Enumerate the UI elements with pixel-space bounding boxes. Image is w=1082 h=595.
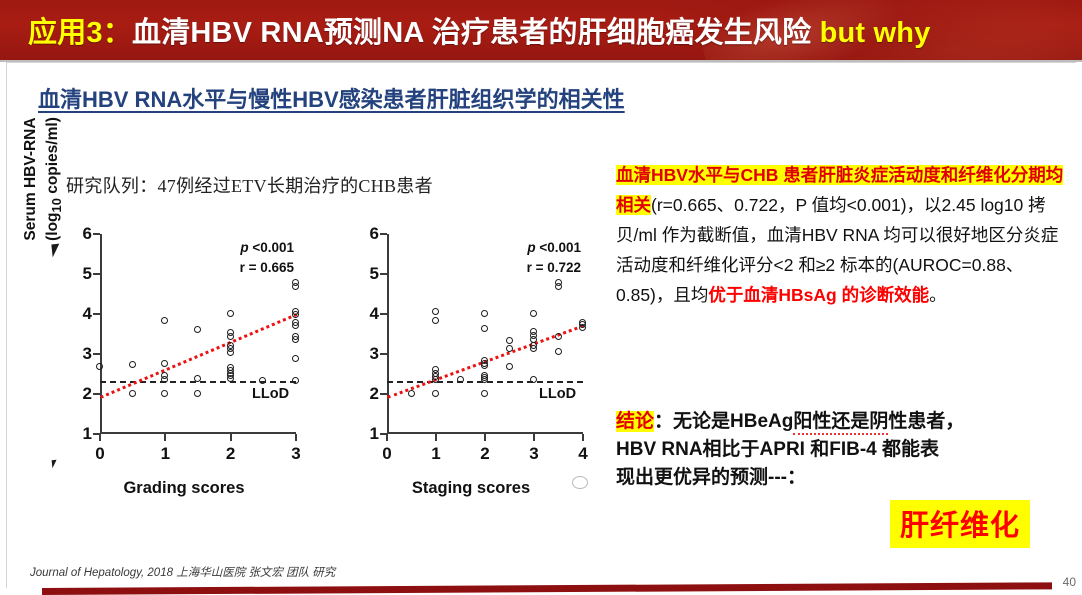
y-tick bbox=[380, 233, 387, 235]
data-point bbox=[194, 375, 201, 382]
annotation-r-value: r = 0.665 bbox=[240, 260, 294, 275]
conclusion-line2: HBV RNA相比于APRI 和FIB-4 都能表 bbox=[616, 439, 939, 460]
x-tick bbox=[386, 434, 388, 441]
data-point bbox=[292, 283, 299, 290]
x-tick-label: 3 bbox=[283, 444, 309, 464]
data-point bbox=[506, 345, 513, 352]
x-tick-label: 2 bbox=[472, 444, 498, 464]
y-tick bbox=[380, 313, 387, 315]
x-tick-label: 0 bbox=[374, 444, 400, 464]
data-point bbox=[194, 326, 201, 333]
analysis-body-2: 。 bbox=[929, 285, 947, 305]
data-point bbox=[161, 360, 168, 367]
y-tick bbox=[93, 353, 100, 355]
title-suffix: but why bbox=[820, 17, 931, 49]
y-tick bbox=[380, 273, 387, 275]
title-badge: 应用3 bbox=[28, 17, 103, 49]
y-tick bbox=[93, 233, 100, 235]
x-tick-label: 0 bbox=[87, 444, 113, 464]
y-axis-line bbox=[387, 234, 389, 434]
x-axis-label: Staging scores bbox=[351, 479, 591, 498]
reference-line-label: LLoD bbox=[539, 386, 576, 402]
data-point bbox=[227, 349, 234, 356]
data-point bbox=[506, 363, 513, 370]
y-tick-label: 4 bbox=[70, 304, 92, 324]
x-tick-label: 1 bbox=[423, 444, 449, 464]
data-point bbox=[432, 390, 439, 397]
annotation-p-value: p <0.001 bbox=[527, 240, 581, 255]
x-tick-label: 4 bbox=[570, 444, 596, 464]
data-point bbox=[292, 355, 299, 362]
conclusion-line1-squiggle: 阳性还是阴 bbox=[793, 411, 888, 435]
y-axis-label-line2: (log10 copies/ml) bbox=[44, 104, 65, 254]
x-tick-label: 3 bbox=[521, 444, 547, 464]
x-tick bbox=[295, 434, 297, 441]
data-point bbox=[530, 376, 537, 383]
y-tick-label: 1 bbox=[70, 424, 92, 444]
y-tick-label: 5 bbox=[357, 264, 379, 284]
x-tick bbox=[99, 434, 101, 441]
slide-subtitle: 血清HBV RNA水平与慢性HBV感染患者肝脏组织学的相关性 bbox=[38, 82, 625, 114]
emphasis-box-liver-fibrosis: 肝纤维化 bbox=[890, 500, 1030, 548]
y-tick-label: 6 bbox=[357, 224, 379, 244]
y-tick-label: 6 bbox=[70, 224, 92, 244]
footer-accent-bar bbox=[42, 582, 1052, 595]
data-point bbox=[292, 336, 299, 343]
y-tick-label: 3 bbox=[70, 344, 92, 364]
plot-area-staging: p <0.001 r = 0.722 12345601234LLoD bbox=[387, 234, 583, 434]
data-point bbox=[481, 325, 488, 332]
x-tick-label: 2 bbox=[218, 444, 244, 464]
title-banner: 应用3：血清HBV RNA预测NA 治疗患者的肝细胞癌发生风险 but why bbox=[0, 0, 1082, 62]
annotation-r-value: r = 0.722 bbox=[527, 260, 581, 275]
conclusion-line1-b: 性患者， bbox=[888, 411, 964, 432]
data-point bbox=[481, 362, 488, 369]
data-point bbox=[579, 324, 586, 331]
title-main: 血清HBV RNA预测NA 治疗患者的肝细胞癌发生风险 bbox=[132, 17, 811, 49]
annotation-p-value: p <0.001 bbox=[240, 240, 294, 255]
y-tick-label: 1 bbox=[357, 424, 379, 444]
x-tick bbox=[582, 434, 584, 441]
y-tick bbox=[93, 273, 100, 275]
conclusion-block: 结论：无论是HBeAg阳性还是阴性患者， HBV RNA相比于APRI 和FIB… bbox=[616, 408, 1068, 492]
reference-line-label: LLoD bbox=[252, 386, 289, 402]
slide-root: 应用3：血清HBV RNA预测NA 治疗患者的肝细胞癌发生风险 but why … bbox=[0, 0, 1082, 595]
data-point bbox=[506, 337, 513, 344]
chart-panel-grading: Serum HBV-RNA (log10 copies/ml) p <0.001… bbox=[24, 228, 307, 496]
y-tick bbox=[93, 313, 100, 315]
y-tick-label: 2 bbox=[70, 384, 92, 404]
data-point bbox=[432, 317, 439, 324]
data-point bbox=[292, 322, 299, 329]
x-tick bbox=[435, 434, 437, 441]
data-point bbox=[555, 348, 562, 355]
data-point bbox=[161, 390, 168, 397]
figure-scatter-pair: Serum HBV-RNA (log10 copies/ml) p <0.001… bbox=[24, 228, 594, 496]
page-number: 40 bbox=[1063, 575, 1076, 589]
conclusion-colon: ： bbox=[654, 411, 673, 432]
data-point bbox=[227, 310, 234, 317]
data-point bbox=[432, 308, 439, 315]
chart-panel-staging: p <0.001 r = 0.722 12345601234LLoD Stagi… bbox=[311, 228, 594, 496]
y-axis-line bbox=[100, 234, 102, 434]
y-axis-label-line1: Serum HBV-RNA bbox=[22, 104, 39, 254]
y-tick-label: 5 bbox=[70, 264, 92, 284]
y-tick-label: 4 bbox=[357, 304, 379, 324]
x-axis-label: Grading scores bbox=[64, 479, 304, 498]
data-point bbox=[555, 283, 562, 290]
footer-citation: Journal of Hepatology, 2018 上海华山医院 张文宏 团… bbox=[30, 564, 335, 580]
y-tick bbox=[380, 393, 387, 395]
data-point bbox=[194, 390, 201, 397]
plot-area-grading: p <0.001 r = 0.665 1234560123LLoD bbox=[100, 234, 296, 434]
data-point bbox=[530, 345, 537, 352]
data-point bbox=[555, 333, 562, 340]
cohort-caption: 研究队列：47例经过ETV长期治疗的CHB患者 bbox=[66, 172, 433, 198]
analysis-paragraph: 血清HBV水平与CHB 患者肝脏炎症活动度和纤维化分期均相关(r=0.665、0… bbox=[616, 160, 1068, 310]
title-colon: ： bbox=[103, 17, 132, 49]
data-point bbox=[161, 376, 168, 383]
data-point bbox=[530, 310, 537, 317]
data-point bbox=[408, 390, 415, 397]
data-point bbox=[161, 317, 168, 324]
conclusion-label: 结论 bbox=[616, 411, 654, 432]
conclusion-line3: 现出更优异的预测---： bbox=[616, 467, 806, 488]
data-point bbox=[227, 375, 234, 382]
data-point bbox=[481, 310, 488, 317]
x-tick bbox=[484, 434, 486, 441]
data-point bbox=[129, 361, 136, 368]
data-point bbox=[292, 377, 299, 384]
y-tick-label: 2 bbox=[357, 384, 379, 404]
x-tick-label: 1 bbox=[152, 444, 178, 464]
data-point bbox=[457, 376, 464, 383]
y-tick bbox=[93, 393, 100, 395]
x-axis-line bbox=[100, 432, 296, 434]
data-point bbox=[481, 390, 488, 397]
analysis-highlight-1: 血清HBV水平与CHB 患者肝脏炎症活动度和 bbox=[616, 165, 958, 185]
analysis-red-emphasis: 优于血清HBsAg 的诊断效能 bbox=[708, 285, 929, 305]
x-tick bbox=[230, 434, 232, 441]
data-point bbox=[227, 333, 234, 340]
analysis-text-block: 血清HBV水平与CHB 患者肝脏炎症活动度和纤维化分期均相关(r=0.665、0… bbox=[616, 160, 1068, 310]
data-point bbox=[129, 390, 136, 397]
conclusion-line1-a: 无论是HBeAg bbox=[673, 411, 793, 432]
y-tick bbox=[380, 353, 387, 355]
data-point bbox=[432, 376, 439, 383]
slide-title: 应用3：血清HBV RNA预测NA 治疗患者的肝细胞癌发生风险 but why bbox=[28, 9, 931, 51]
y-tick-label: 3 bbox=[357, 344, 379, 364]
data-point bbox=[292, 311, 299, 318]
x-tick bbox=[164, 434, 166, 441]
x-tick bbox=[533, 434, 535, 441]
